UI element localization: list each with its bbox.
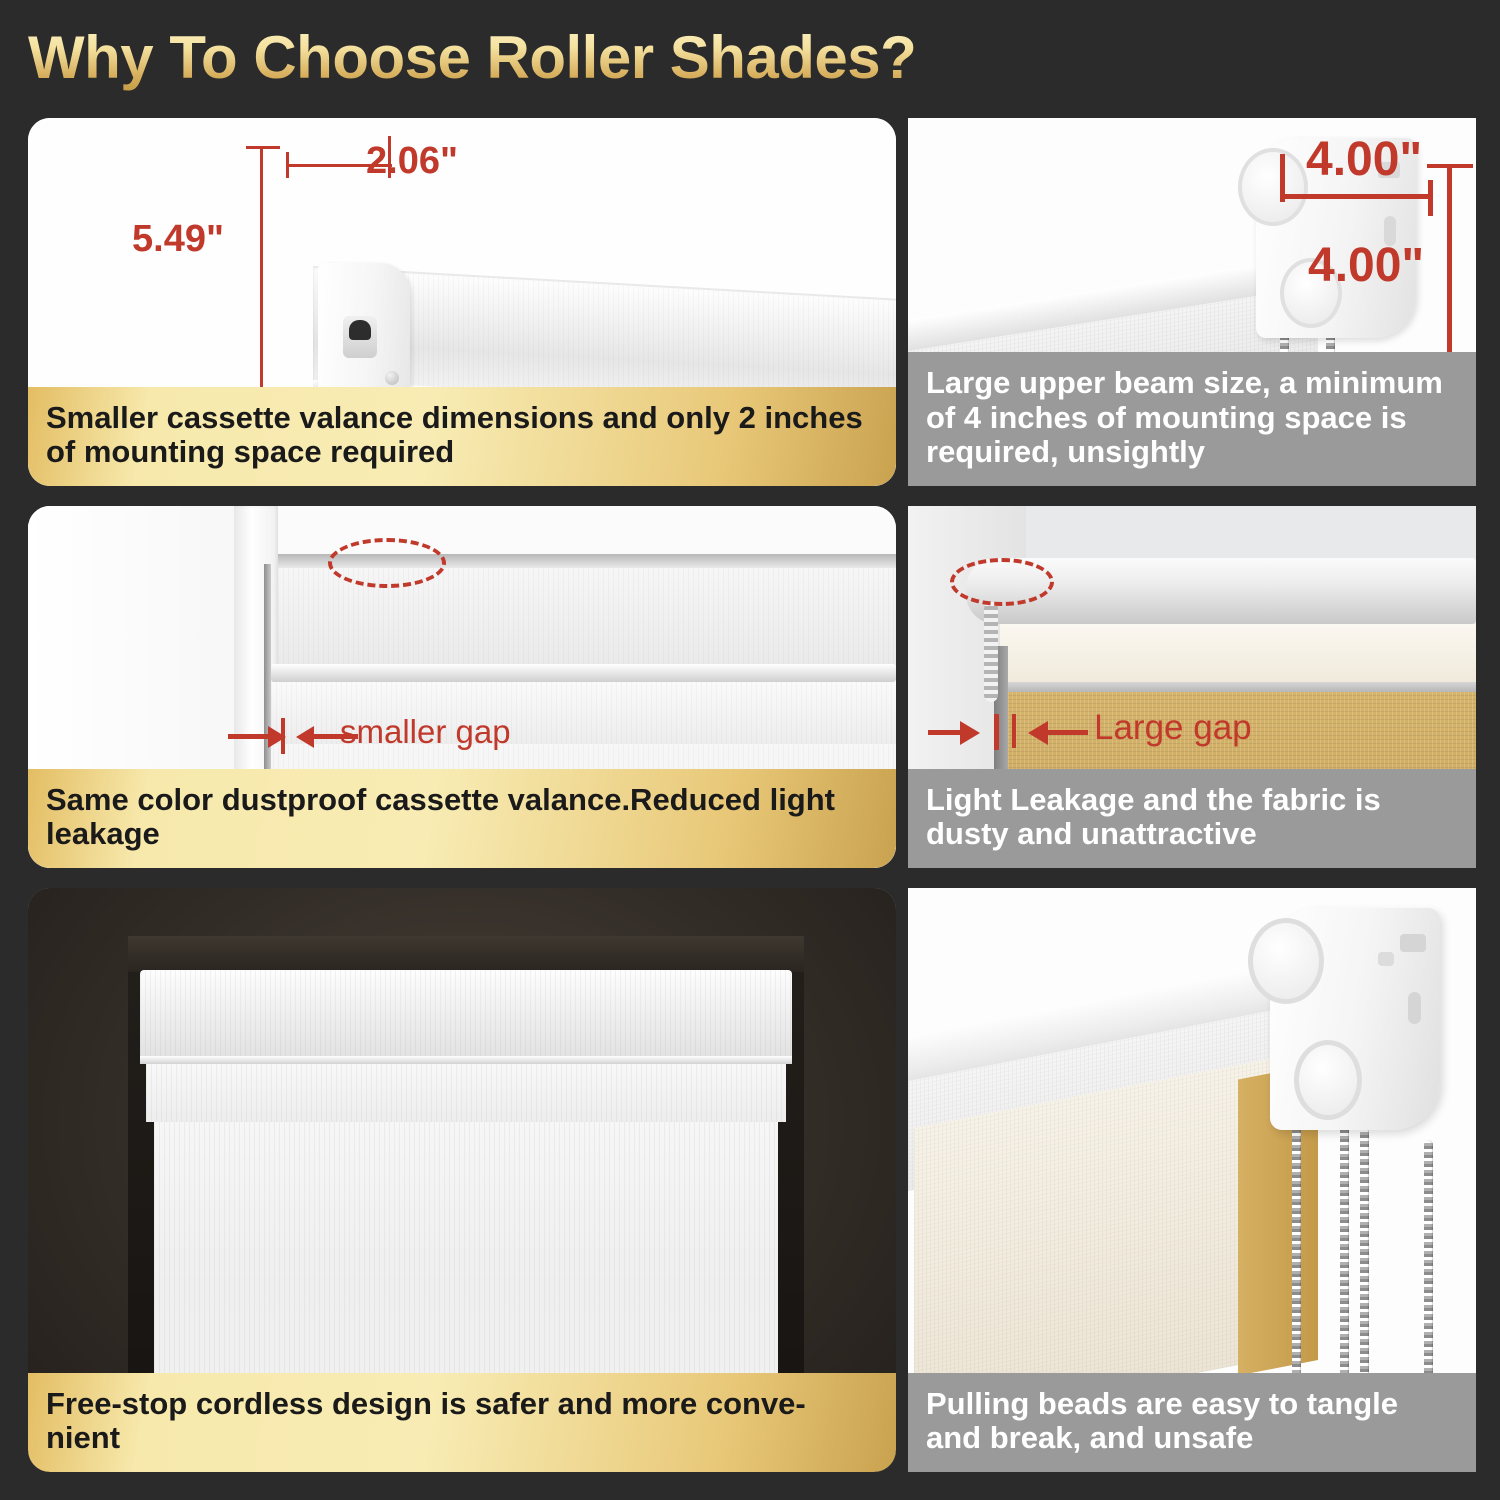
page-title: Why To Choose Roller Shades?	[28, 22, 1228, 94]
panel-6-caption: Pulling beads are easy to tangle and bre…	[908, 1373, 1476, 1472]
gap-arrow-right-head-icon	[296, 726, 314, 748]
gap-arrow-left-shaft	[928, 730, 964, 735]
gap-marker-line-1	[994, 714, 999, 750]
roller-end-disc-upper	[1238, 148, 1308, 226]
height-dimension-tick-top	[1427, 164, 1473, 168]
panel-smaller-cassette: 5.49" 2.06" Smaller cassette valance dim…	[28, 118, 896, 486]
panel-dustproof-valance: smaller gap Same color dustproof cassett…	[28, 506, 896, 868]
panel-5-caption: Free-stop cordless design is safer and m…	[28, 1373, 896, 1472]
height-dimension-label: 5.49"	[132, 218, 224, 261]
valance-lip	[1000, 682, 1476, 692]
roller-end-disc-upper	[1248, 918, 1324, 1004]
valance-rail	[271, 664, 896, 682]
height-dimension-line	[1447, 164, 1452, 364]
gap-arrow-right-head-icon	[1028, 721, 1048, 745]
width-dimension-label: 2.06"	[366, 140, 458, 183]
end-cap-screw-upper-icon	[385, 371, 399, 385]
height-dimension-label: 4.00"	[1308, 238, 1424, 293]
highlight-ellipse	[950, 558, 1054, 606]
width-dimension-tick-right	[1428, 180, 1433, 216]
panel-pulling-beads: Pulling beads are easy to tangle and bre…	[908, 888, 1476, 1472]
gap-marker-line-2	[1012, 714, 1016, 748]
window-soffit	[128, 936, 804, 972]
valance-panel	[1000, 624, 1476, 686]
panel-large-upper-beam: 4.00" 4.00" Large upper beam size, a min…	[908, 118, 1476, 486]
width-dimension-label: 4.00"	[1306, 132, 1422, 187]
width-dimension-tick-left	[286, 152, 289, 178]
gap-callout-label: smaller gap	[340, 713, 511, 751]
end-cap-slot-icon	[343, 316, 377, 358]
bracket-notch-side	[1378, 952, 1394, 966]
gap-arrow-left-head-icon	[268, 726, 286, 748]
height-dimension-line	[260, 146, 263, 394]
gap-callout-label: Large gap	[1094, 708, 1252, 748]
gap-arrow-left-head-icon	[960, 721, 980, 745]
gap-arrow-left-shaft	[228, 734, 272, 739]
panel-2-caption: Large upper beam size, a minimum of 4 in…	[908, 352, 1476, 486]
panel-1-caption: Smaller cassette valance dimensions and …	[28, 387, 896, 486]
cassette-headrail	[140, 970, 792, 1058]
panel-light-leakage: Large gap Light Leakage and the fabric i…	[908, 506, 1476, 868]
bead-chain-icon	[984, 602, 998, 702]
headrail-split-line	[140, 1056, 792, 1064]
bracket-notch-lower	[1408, 992, 1421, 1024]
panel-cordless-design: Free-stop cordless design is safer and m…	[28, 888, 896, 1472]
shade-fabric-upper	[146, 1064, 786, 1122]
bead-chain-right-icon	[1424, 1140, 1433, 1380]
roller-end-disc-lower	[1294, 1040, 1362, 1120]
infographic-root: Why To Choose Roller Shades? 5.49" 2.06"…	[0, 0, 1500, 1500]
width-dimension-line	[1280, 194, 1432, 199]
width-dimension-tick-left	[1280, 154, 1285, 202]
panel-4-caption: Light Leakage and the fabric is dusty an…	[908, 769, 1476, 868]
height-dimension-tick-top	[246, 146, 280, 149]
panel-3-caption: Same color dustproof cassette valance.Re…	[28, 769, 896, 868]
highlight-ellipse	[328, 538, 446, 588]
gap-arrow-right-shaft	[1048, 730, 1088, 735]
bracket-notch-upper	[1400, 934, 1426, 952]
